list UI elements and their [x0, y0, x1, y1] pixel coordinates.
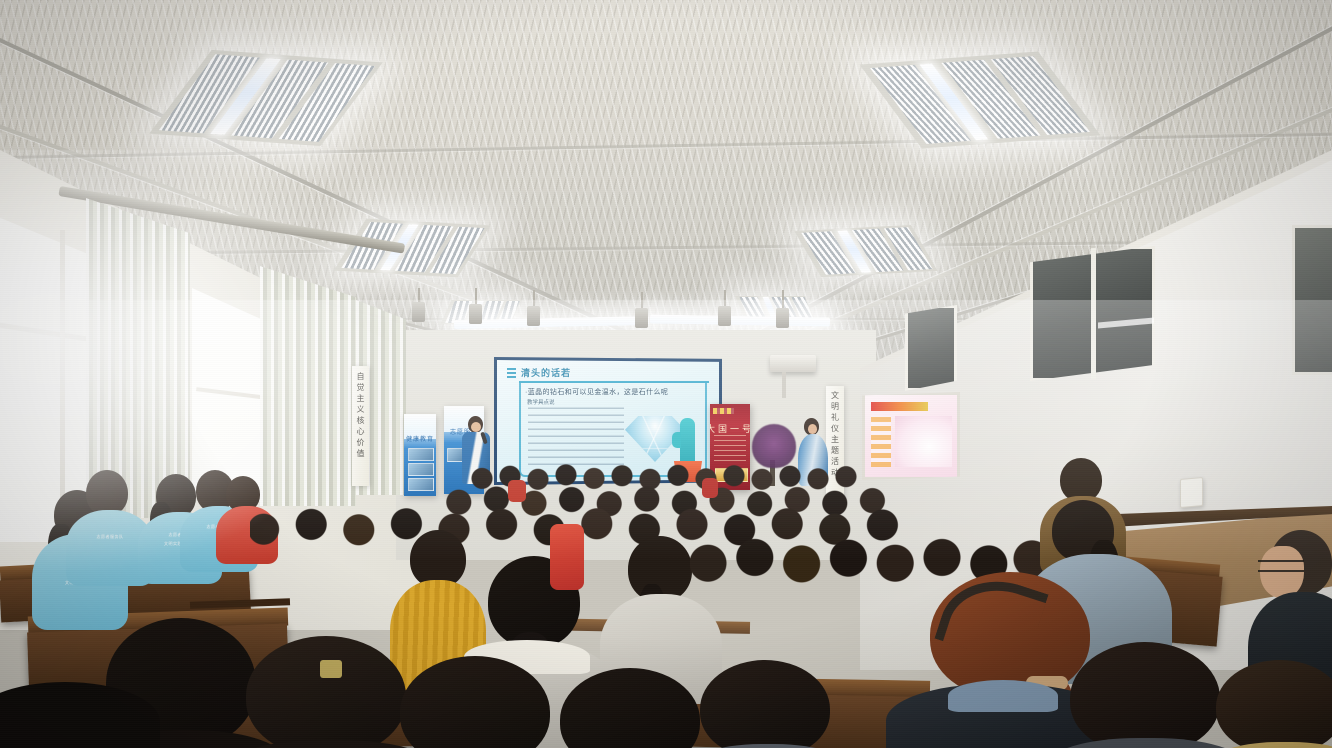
- right-window: [905, 305, 957, 391]
- light-switch[interactable]: [1180, 477, 1203, 508]
- slide-heading: ·蓝晶的钻石和可以见金温水，这是石什么呢: [525, 387, 668, 397]
- denim-collar: [948, 680, 1058, 712]
- slide-bullet-icon: [507, 368, 516, 378]
- red-garment-accent: [550, 524, 584, 590]
- head: [1070, 642, 1220, 748]
- banner-photo: [408, 478, 434, 491]
- right-window: [1292, 225, 1332, 375]
- banner-photo: [408, 448, 434, 461]
- pendant-light: [469, 304, 482, 324]
- presenter-face: [471, 422, 481, 432]
- face: [1260, 546, 1304, 598]
- air-conditioner-pipe: [782, 372, 786, 398]
- head: [700, 660, 830, 748]
- banner-photo: [408, 463, 434, 476]
- air-conditioner-unit: [770, 355, 816, 372]
- pendant-light: [776, 308, 789, 328]
- hair-clip-icon: [320, 660, 342, 678]
- board-image-panel: [895, 416, 952, 467]
- slide-subheading: 教学具点说: [527, 398, 555, 406]
- head: [246, 636, 406, 748]
- left-vertical-banner: 自觉主义核心价值: [352, 366, 369, 486]
- board-text-column: [871, 416, 891, 467]
- face: [808, 424, 817, 434]
- wall-notice-board: [862, 392, 960, 480]
- lecture-hall-photo: 清头的话若 ·蓝晶的钻石和可以见金温水，这是石什么呢 教学具点说 自觉主义核心价…: [0, 0, 1332, 748]
- blue-banner-left-text: 健康教育: [406, 434, 434, 443]
- window-mullion: [1091, 248, 1096, 379]
- pendant-light: [527, 306, 540, 326]
- vest-text-line1: 志愿者服务队: [72, 534, 148, 539]
- banner-logo: [713, 408, 734, 414]
- cactus-arm: [672, 432, 681, 448]
- blue-rollup-banner-left: 健康教育: [404, 414, 436, 496]
- window-curtain: [260, 266, 356, 506]
- head: [1216, 660, 1332, 748]
- slide-title: 清头的话若: [521, 366, 571, 379]
- board-title-bar: [871, 402, 928, 411]
- pendant-light: [718, 306, 731, 326]
- red-banner-title: 大国一号: [710, 422, 750, 435]
- pendant-light: [635, 308, 648, 328]
- left-banner-text: 自觉主义核心价值: [355, 372, 366, 460]
- eyeglasses-icon: [1258, 560, 1304, 572]
- pendant-light: [412, 302, 425, 322]
- pendant-light-rod: [782, 290, 784, 310]
- window-mullion: [60, 230, 65, 530]
